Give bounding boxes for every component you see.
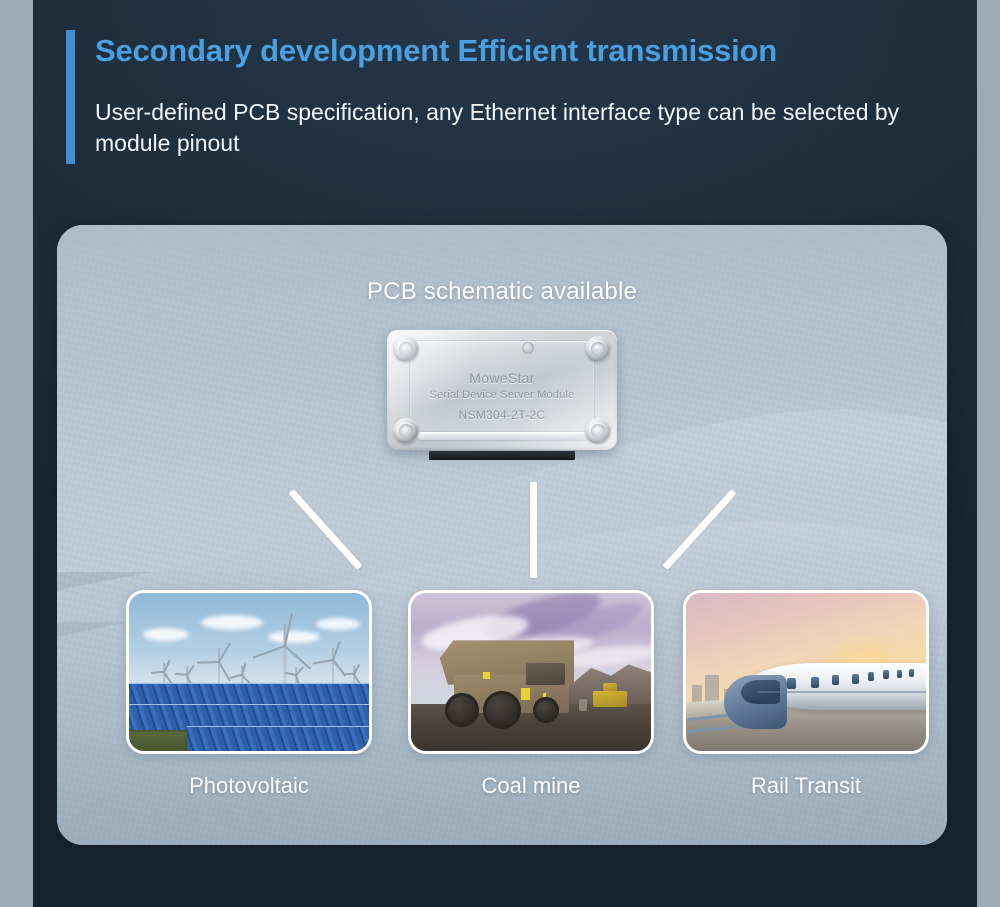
- train-window: [883, 670, 889, 679]
- screw-icon-top-right: [585, 336, 611, 362]
- screw-icon-bottom-left: [393, 418, 419, 444]
- application-thumbnail-coal-mine[interactable]: [408, 590, 654, 754]
- turbine-blade: [218, 662, 231, 682]
- page-title: Secondary development Efficient transmis…: [95, 33, 777, 69]
- truck-marker: [483, 672, 490, 679]
- caption-rail-transit: Rail Transit: [683, 773, 929, 799]
- bulldozer: [593, 691, 627, 707]
- module-housing: MoweStar Serial Device Server Module NSM…: [387, 330, 617, 450]
- bulldozer-cab: [603, 683, 617, 691]
- pv-cloud: [143, 628, 189, 641]
- connector-line-center: [530, 482, 537, 578]
- dump-truck-cab: [526, 663, 564, 685]
- screw-icon-top-left: [393, 336, 419, 362]
- content-panel: Secondary development Efficient transmis…: [33, 0, 977, 907]
- solar-panel-row: [187, 726, 372, 751]
- module-vent-icon: [522, 342, 534, 354]
- page-root: Secondary development Efficient transmis…: [0, 0, 1000, 907]
- caption-coal-mine: Coal mine: [408, 773, 654, 799]
- truck-wheel: [483, 691, 521, 729]
- application-thumbnail-rail-transit[interactable]: [683, 590, 929, 754]
- train-window: [909, 669, 914, 677]
- truck-wheel: [445, 693, 479, 727]
- train-window: [787, 678, 796, 689]
- module-description: Serial Device Server Module: [410, 389, 594, 401]
- train-window: [897, 670, 902, 678]
- caption-photovoltaic: Photovoltaic: [126, 773, 372, 799]
- bulldozer-blade: [579, 699, 587, 711]
- card-caption: PCB schematic available: [57, 278, 947, 306]
- header-section: Secondary development Efficient transmis…: [33, 0, 977, 200]
- turbine-blade: [313, 659, 333, 664]
- application-thumbnail-photovoltaic[interactable]: [126, 590, 372, 754]
- coal-mine-image: [411, 593, 651, 751]
- turbine-blade: [151, 672, 164, 675]
- photovoltaic-image: [129, 593, 369, 751]
- turbine-blade: [343, 673, 354, 675]
- train-window: [868, 672, 874, 681]
- train-window: [852, 674, 859, 684]
- product-module: MoweStar Serial Device Server Module NSM…: [387, 330, 617, 460]
- module-faceplate: MoweStar Serial Device Server Module NSM…: [410, 341, 594, 433]
- turbine-blade: [218, 643, 231, 663]
- turbine-blade: [175, 673, 187, 676]
- rail-transit-image: [686, 593, 926, 751]
- train-window: [811, 677, 819, 688]
- train-window: [832, 675, 839, 685]
- module-model: NSM304-2T-2C: [410, 408, 594, 422]
- train-stripe: [758, 691, 929, 693]
- module-pcb-edge: [429, 451, 575, 460]
- module-bottom-groove: [417, 432, 587, 440]
- screw-icon-bottom-right: [585, 418, 611, 444]
- turbine-blade: [197, 661, 219, 664]
- module-brand: MoweStar: [410, 370, 594, 386]
- turbine-blade: [241, 663, 246, 675]
- truck-marker: [521, 688, 530, 700]
- accent-bar: [66, 30, 75, 164]
- page-subtitle: User-defined PCB specification, any Ethe…: [95, 97, 975, 159]
